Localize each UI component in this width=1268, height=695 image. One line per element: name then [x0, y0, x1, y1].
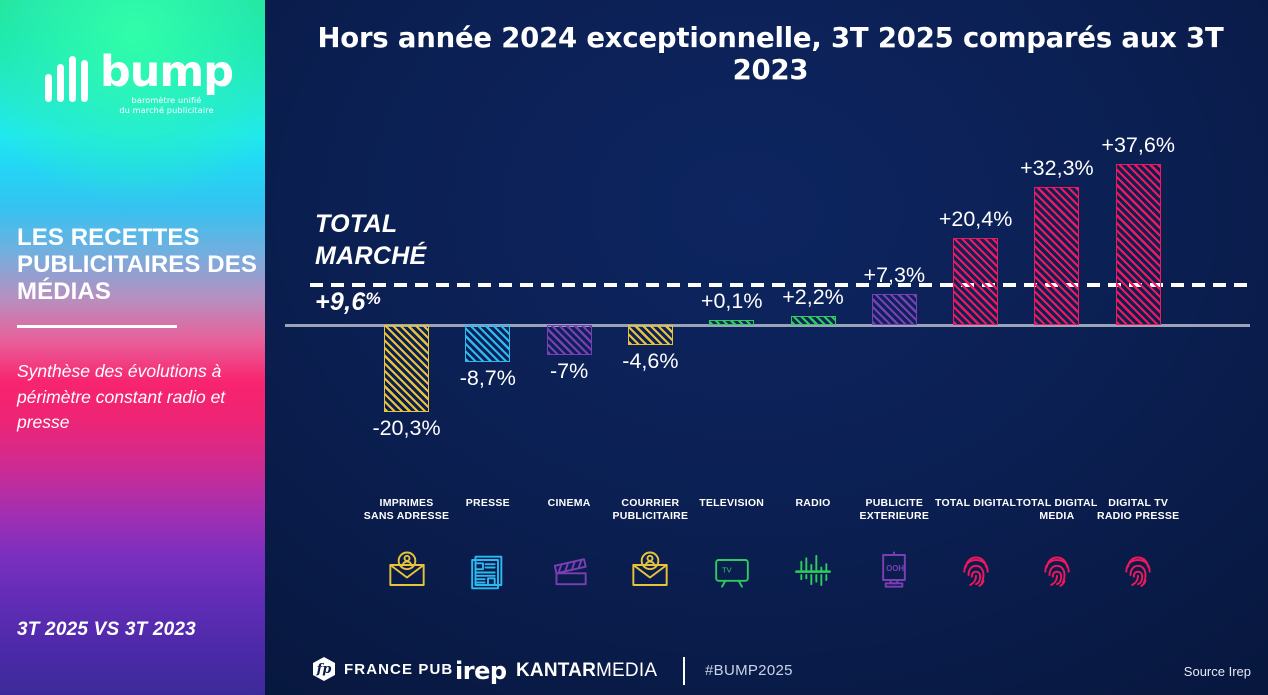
hashtag-label: #BUMP2025 [705, 662, 793, 679]
chart-bar [872, 294, 917, 325]
source-label: Source Irep [1184, 664, 1251, 679]
envelope-person-icon [622, 546, 678, 594]
total-market-label-line2: MARCHÉ [315, 240, 427, 272]
bump-bars-logo-icon [45, 56, 88, 102]
chart-bar [547, 325, 592, 355]
category-label: DIGITAL TV RADIO PRESSE [1095, 497, 1181, 523]
category-label: COURRIER PUBLICITAIRE [607, 497, 693, 523]
category-label: TELEVISION [689, 497, 775, 510]
sidebar-period-note: 3T 2025 VS 3T 2023 [17, 617, 196, 642]
chart-bar [384, 325, 429, 412]
bar-value-label: +20,4% [916, 207, 1036, 232]
main-panel: Hors année 2024 exceptionnelle, 3T 2025 … [265, 0, 1268, 695]
kantar-light: MEDIA [596, 660, 657, 681]
france-pub-mark-text: fp [317, 662, 332, 677]
footer-divider [683, 657, 685, 685]
bar-value-label: +32,3% [997, 156, 1117, 181]
chart-bar [709, 320, 754, 325]
total-market-value-unit: % [366, 289, 381, 308]
clapperboard-icon [541, 546, 597, 594]
france-pub-mark-icon: fp [313, 657, 335, 681]
bar-value-label: +7,3% [834, 263, 954, 288]
category-label: TOTAL DIGITAL MEDIA [1014, 497, 1100, 523]
chart-bar [791, 316, 836, 325]
chart-bar [1116, 164, 1161, 325]
france-pub-label: FRANCE PUB [344, 661, 453, 678]
total-market-label-line1: TOTAL [315, 208, 427, 240]
total-market-value-number: +9,6 [315, 288, 366, 316]
ooh-billboard-icon: OOH [866, 546, 922, 594]
kantar-media-logo: KANTARMEDIA [516, 660, 657, 682]
category-label: RADIO [770, 497, 856, 510]
sidebar-heading: LES RECETTES PUBLICITAIRES DES MÉDIAS [17, 224, 265, 305]
category-label: TOTAL DIGITAL [933, 497, 1019, 510]
logo-tagline: baromètre unifié du marché publicitaire [100, 95, 233, 116]
chart-bar [465, 325, 510, 362]
logo-tagline-line2: du marché publicitaire [100, 105, 233, 115]
bar-value-label: +37,6% [1078, 133, 1198, 158]
chart-bar [953, 238, 998, 325]
kantar-bold: KANTAR [516, 660, 596, 681]
bar-value-label: -4,6% [590, 349, 710, 374]
bump-logo: bump baromètre unifié du marché publicit… [45, 52, 233, 115]
bar-value-label: -20,3% [347, 416, 467, 441]
logo-wordmark: bump [100, 52, 233, 93]
category-label: PRESSE [445, 497, 531, 510]
chart-bar [1034, 187, 1079, 325]
chart-baseline [285, 324, 1250, 327]
footer: fp FRANCE PUB irep KANTARMEDIA #BUMP2025… [265, 648, 1268, 695]
sidebar-divider [17, 325, 177, 328]
category-label: PUBLICITE EXTERIEURE [851, 497, 937, 523]
svg-text:TV: TV [722, 566, 732, 575]
irep-logo: irep [455, 657, 507, 685]
category-label: IMPRIMES SANS ADRESSE [364, 497, 450, 523]
bar-value-label: +2,2% [753, 285, 873, 310]
fingerprint-icon [1029, 546, 1085, 594]
france-pub-logo: fp FRANCE PUB [313, 657, 453, 681]
fingerprint-icon [948, 546, 1004, 594]
radio-waveform-icon [785, 546, 841, 594]
fingerprint-icon [1110, 546, 1166, 594]
bar-chart: TOTAL MARCHÉ +9,6% -20,3%-8,7%-7%-4,6%+0… [265, 0, 1268, 695]
sidebar-subtitle: Synthèse des évolutions à périmètre cons… [17, 359, 265, 436]
chart-bar [628, 325, 673, 345]
svg-text:OOH: OOH [886, 564, 904, 573]
sidebar: bump baromètre unifié du marché publicit… [0, 0, 265, 695]
total-market-value: +9,6% [315, 288, 381, 317]
newspaper-icon [460, 546, 516, 594]
category-label: CINEMA [526, 497, 612, 510]
tv-icon: TV [704, 546, 760, 594]
envelope-person-icon [379, 546, 435, 594]
total-market-label: TOTAL MARCHÉ [315, 208, 427, 272]
